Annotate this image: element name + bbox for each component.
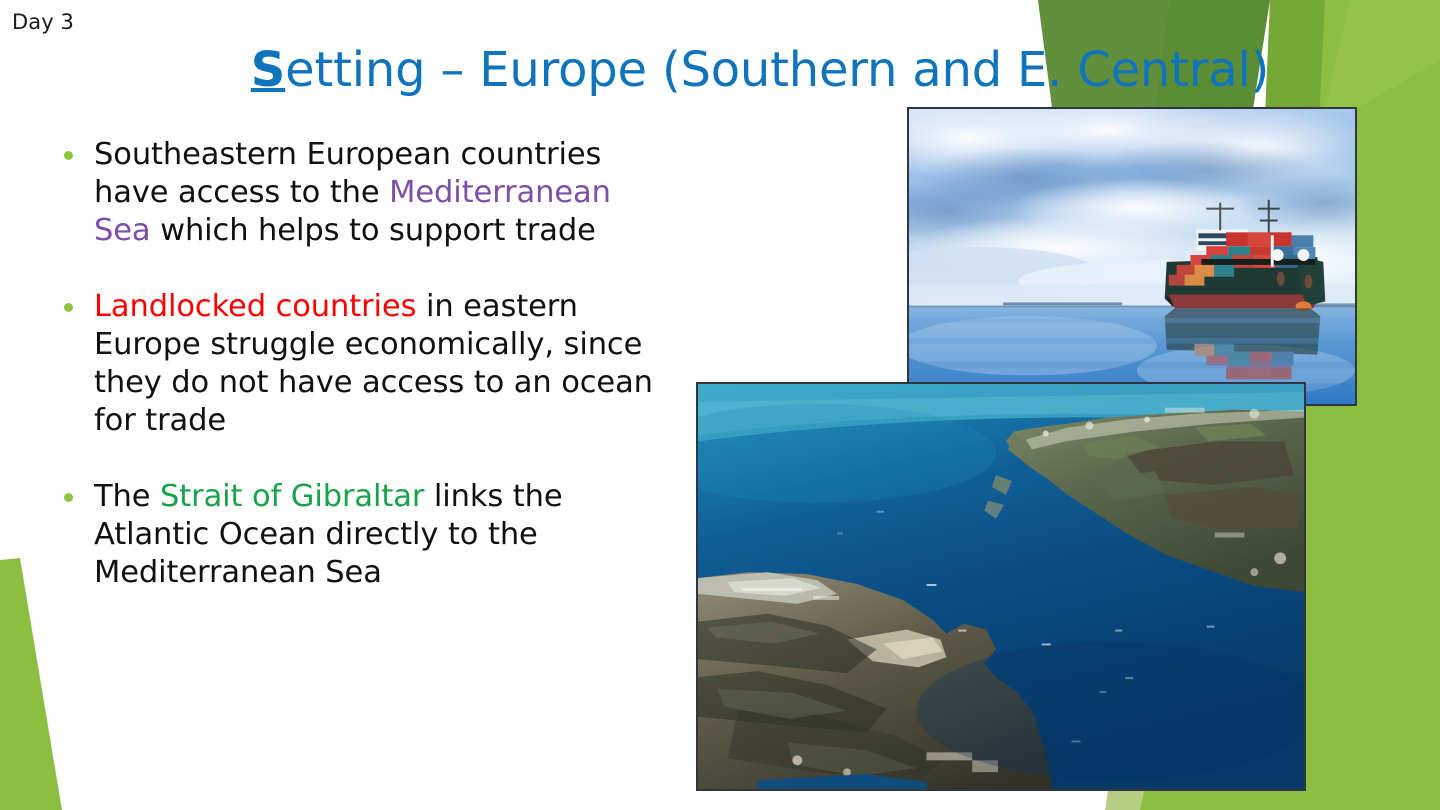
green-dot-bullet-icon [64, 151, 73, 160]
green-dot-bullet-icon [64, 493, 73, 502]
list-item: Landlocked countries in eastern Europe s… [56, 288, 676, 440]
bullet-list: Southeastern European countries have acc… [56, 136, 676, 592]
title-line2: Central) [1077, 42, 1269, 98]
slide-canvas: Day 3 Setting – Europe (Southern and E. … [0, 0, 1440, 810]
green-dot-bullet-icon [64, 303, 73, 312]
title-rest: etting – Europe (Southern and E. [285, 42, 1062, 98]
bullet-1-segment-3: which helps to support trade [151, 213, 596, 248]
container-ship-photo [907, 107, 1357, 406]
bullet-text-1: Southeastern European countries have acc… [94, 136, 676, 250]
list-item: The Strait of Gibraltar links the Atlant… [56, 478, 676, 592]
title-initial-letter: S [251, 42, 285, 98]
bullet-3-segment-1: The [94, 479, 160, 514]
bullet-2-highlight-landlocked-countries: Landlocked countries [94, 289, 416, 324]
bullet-text-3: The Strait of Gibraltar links the Atlant… [94, 478, 676, 592]
strait-of-gibraltar-satellite-photo [696, 382, 1306, 791]
bullet-3-highlight-strait-of-gibraltar: Strait of Gibraltar [160, 479, 424, 514]
day-label: Day 3 [12, 10, 74, 34]
page-title: Setting – Europe (Southern and E. Centra… [230, 40, 1290, 101]
bullet-text-2: Landlocked countries in eastern Europe s… [94, 288, 676, 440]
list-item: Southeastern European countries have acc… [56, 136, 676, 250]
